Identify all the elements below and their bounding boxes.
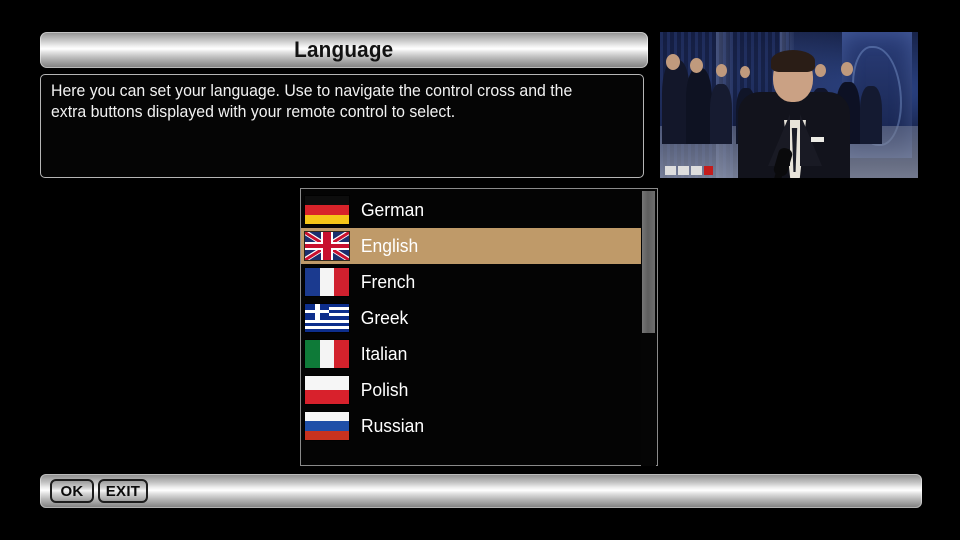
video-crowd-head <box>815 64 826 77</box>
scrollbar-thumb[interactable] <box>642 191 655 333</box>
list-item[interactable]: French <box>301 264 641 300</box>
page-title: Language <box>294 39 393 61</box>
list-item[interactable]: Russian <box>301 408 641 444</box>
window-title-bar: Language <box>40 32 648 68</box>
video-crowd-head <box>690 58 703 73</box>
video-crowd-figure <box>686 68 712 144</box>
video-crowd-head <box>740 66 750 78</box>
news-channel-logo <box>665 166 713 175</box>
list-item[interactable]: Polish <box>301 372 641 408</box>
language-list[interactable]: German English French <box>300 188 658 466</box>
exit-button[interactable]: EXIT <box>98 479 148 503</box>
list-item[interactable]: Greek <box>301 300 641 336</box>
bottom-action-bar: OK EXIT <box>40 474 922 508</box>
video-crowd-head <box>666 54 680 70</box>
video-crowd-figure <box>710 84 732 144</box>
scrollbar-track[interactable] <box>641 190 656 466</box>
ok-button[interactable]: OK <box>50 479 94 503</box>
flag-greece-icon <box>305 304 349 332</box>
list-item-label: Italian <box>361 345 408 363</box>
video-crowd-head <box>716 64 727 77</box>
list-item-label: Greek <box>361 309 409 327</box>
language-list-rows: German English French <box>301 192 641 444</box>
video-crowd-figure <box>860 86 882 144</box>
list-item-label: French <box>361 273 415 291</box>
video-reporter-pocket-square <box>811 137 824 142</box>
video-crowd-head <box>841 62 853 76</box>
list-item[interactable]: Italian <box>301 336 641 372</box>
flag-italy-icon <box>305 340 349 368</box>
flag-germany-icon <box>305 196 349 224</box>
tv-settings-screen: Language Here you can set your language.… <box>0 0 960 540</box>
flag-france-icon <box>305 268 349 296</box>
video-reporter-hair <box>771 50 815 72</box>
help-text: Here you can set your language. Use to n… <box>51 81 610 123</box>
list-item[interactable]: German <box>301 192 641 228</box>
help-panel: Here you can set your language. Use to n… <box>40 74 644 178</box>
flag-poland-icon <box>305 376 349 404</box>
list-item-selected[interactable]: English <box>301 228 642 264</box>
list-item-label: Russian <box>361 417 424 435</box>
flag-united-kingdom-icon <box>305 232 349 260</box>
list-item-label: Polish <box>361 381 409 399</box>
flag-russia-icon <box>305 412 349 440</box>
list-item-label: German <box>361 201 424 219</box>
video-preview[interactable] <box>660 32 918 178</box>
list-item-label: English <box>361 237 418 255</box>
